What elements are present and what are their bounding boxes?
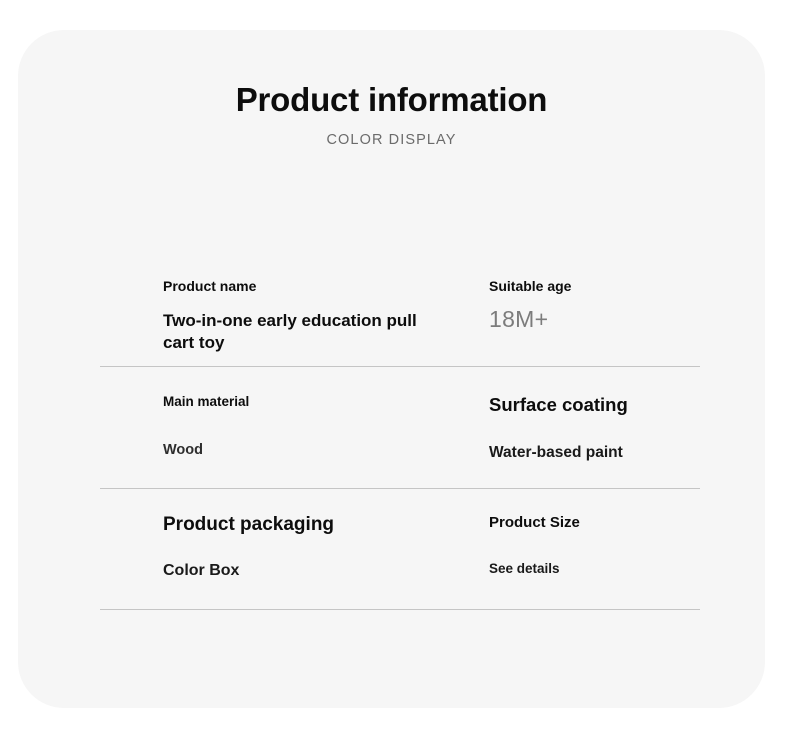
table-row: Product packaging Color Box Product Size… [100,489,700,610]
page-subtitle: COLOR DISPLAY [18,118,765,148]
spec-value-product-size: See details [489,561,700,576]
spec-value-suitable-age: 18M+ [489,306,700,333]
product-information-card: Product information COLOR DISPLAY Produc… [18,30,765,708]
product-information-page: Product information COLOR DISPLAY Produc… [0,0,790,731]
card-header: Product information COLOR DISPLAY [18,30,765,148]
spec-label-product-name: Product name [163,278,445,294]
spec-cell-product-name: Product name Two-in-one early education … [100,278,445,367]
spec-label-surface-coating: Surface coating [489,394,700,416]
spec-label-suitable-age: Suitable age [489,278,700,294]
spec-label-product-packaging: Product packaging [163,514,445,536]
specification-table: Product name Two-in-one early education … [100,255,700,610]
spec-label-product-size: Product Size [489,514,700,531]
row-divider [100,609,700,610]
spec-value-product-packaging: Color Box [163,562,445,580]
spec-cell-product-size: Product Size See details [445,514,700,610]
spec-label-main-material: Main material [163,394,445,409]
page-title: Product information [18,30,765,118]
spec-cell-surface-coating: Surface coating Water-based paint [445,394,700,489]
spec-value-product-name: Two-in-one early education pull cart toy [163,310,423,355]
spec-cell-main-material: Main material Wood [100,394,445,489]
spec-cell-suitable-age: Suitable age 18M+ [445,278,700,367]
table-row: Main material Wood Surface coating Water… [100,367,700,489]
spec-cell-product-packaging: Product packaging Color Box [100,514,445,610]
table-row: Product name Two-in-one early education … [100,255,700,367]
spec-value-surface-coating: Water-based paint [489,444,700,462]
spec-value-main-material: Wood [163,442,445,458]
